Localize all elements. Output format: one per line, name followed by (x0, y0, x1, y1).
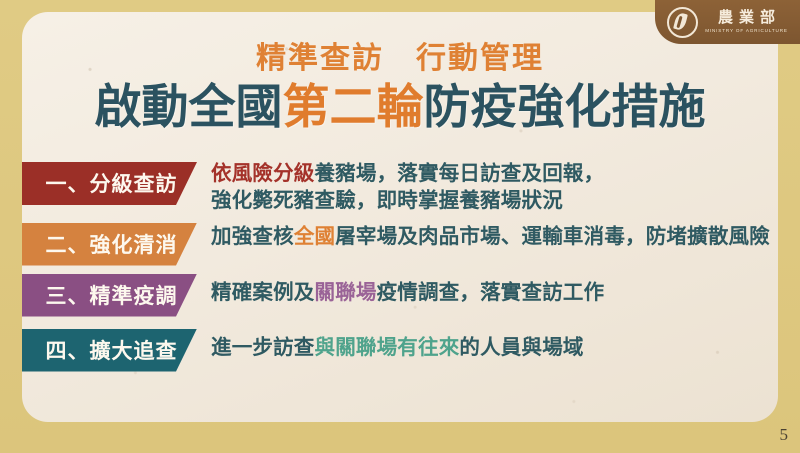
measure-badge-4: 四、擴大追查 (22, 329, 197, 372)
measures-list: 一、分級查訪 依風險分級養豬場，落實每日訪查及回報， 強化斃死豬查驗，即時掌握養… (22, 160, 782, 380)
measure-text-2: 加強查核全國屠宰場及肉品市場、運輸車消毒，防堵擴散風險 (197, 223, 782, 250)
logo-zh-name: 農業部 (712, 10, 781, 25)
page-number: 5 (780, 425, 789, 445)
measure-badge-2: 二、強化清消 (22, 223, 197, 266)
measure-3-seg-2: 關聯場 (315, 280, 377, 304)
logo-text-group: 農業部 MINISTRY OF AGRICULTURE (705, 10, 788, 33)
measure-row: 三、精準疫調 精確案例及關聯場疫情調查，落實查訪工作 (22, 274, 782, 317)
measure-row: 四、擴大追查 進一步訪查與關聯場有往來的人員與場域 (22, 329, 782, 372)
measure-4-seg-2: 與關聯場有往來 (315, 335, 460, 359)
measure-badge-1: 一、分級查訪 (22, 162, 197, 205)
ministry-logo: 農業部 MINISTRY OF AGRICULTURE (655, 0, 800, 44)
measure-text-3: 精確案例及關聯場疫情調查，落實查訪工作 (197, 274, 782, 306)
measure-1-seg-1: 依風險分級 (211, 161, 315, 185)
measure-1-seg-3: 強化斃死豬查驗，即時掌握養豬場狀況 (211, 188, 563, 212)
measure-text-1: 依風險分級養豬場，落實每日訪查及回報， 強化斃死豬查驗，即時掌握養豬場狀況 (197, 160, 782, 215)
measure-4-seg-1: 進一步訪查 (211, 335, 315, 359)
measure-3-seg-1: 精確案例及 (211, 280, 315, 304)
measure-1-seg-2: 養豬場，落實每日訪查及回報， (315, 161, 605, 185)
slide-canvas: 農業部 MINISTRY OF AGRICULTURE 精準查訪 行動管理 啟動… (0, 0, 800, 453)
title-part-2: 防疫強化措施 (424, 80, 706, 135)
slide-title: 啟動全國第二輪防疫強化措施 (0, 83, 800, 134)
measure-row: 一、分級查訪 依風險分級養豬場，落實每日訪查及回報， 強化斃死豬查驗，即時掌握養… (22, 160, 782, 215)
measure-4-seg-3: 的人員與場域 (459, 335, 583, 359)
measure-badge-3: 三、精準疫調 (22, 274, 197, 317)
measure-2-seg-2: 全國 (294, 224, 335, 248)
leaf-circle-icon (667, 7, 698, 38)
logo-en-name: MINISTRY OF AGRICULTURE (705, 29, 788, 34)
title-part-1: 啟動全國 (95, 80, 283, 135)
measure-2-seg-1: 加強查核 (211, 224, 294, 248)
title-highlight: 第二輪 (283, 80, 424, 135)
measure-3-seg-3: 疫情調查，落實查訪工作 (377, 280, 605, 304)
measure-row: 二、強化清消 加強查核全國屠宰場及肉品市場、運輸車消毒，防堵擴散風險 (22, 223, 782, 266)
measure-2-seg-3: 屠宰場及肉品市場、運輸車消毒，防堵擴散風險 (335, 224, 770, 248)
measure-text-4: 進一步訪查與關聯場有往來的人員與場域 (197, 329, 782, 361)
